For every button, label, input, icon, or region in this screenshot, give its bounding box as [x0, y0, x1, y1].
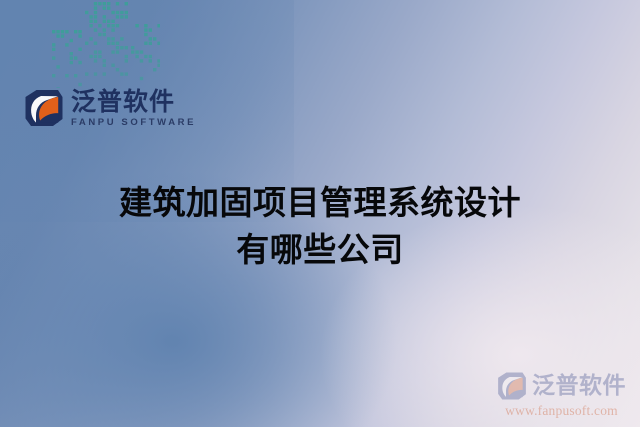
- watermark-website: www.fanpusoft.com: [497, 403, 626, 419]
- poster-canvas: 泛普软件 FANPU SOFTWARE 建筑加固项目管理系统设计 有哪些公司 泛…: [0, 0, 640, 427]
- watermark-logo-lockup: 泛普软件: [497, 371, 626, 401]
- page-title-line-1: 建筑加固项目管理系统设计: [0, 180, 640, 227]
- watermark-company-cn: 泛普软件: [532, 375, 626, 398]
- header-logo-company-en: FANPU SOFTWARE: [71, 118, 196, 128]
- page-title-line-2: 有哪些公司: [0, 227, 640, 274]
- watermark: 泛普软件 www.fanpusoft.com: [497, 371, 626, 419]
- header-logo: 泛普软件 FANPU SOFTWARE: [24, 88, 196, 128]
- page-title: 建筑加固项目管理系统设计 有哪些公司: [0, 180, 640, 274]
- header-logo-wordmark: 泛普软件 FANPU SOFTWARE: [71, 89, 196, 128]
- pixel-skyline-icon: [52, 0, 160, 88]
- pixel-building-decoration: [52, 0, 160, 88]
- watermark-logo-mark-icon: [497, 371, 527, 401]
- fanpu-logo-mark-icon: [24, 88, 64, 128]
- header-logo-company-cn: 泛普软件: [71, 89, 196, 114]
